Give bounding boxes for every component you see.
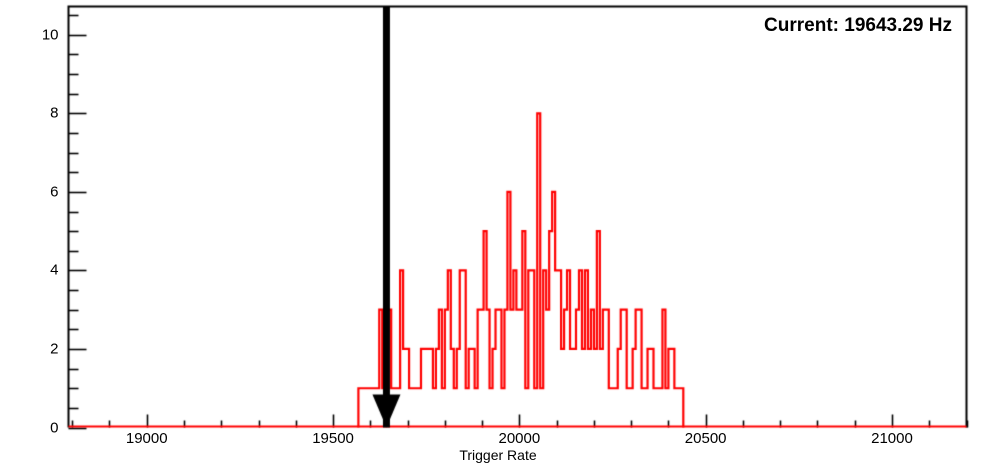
x-tick-label: 20500: [685, 430, 727, 447]
y-tick-label: 2: [0, 340, 59, 357]
trigger-rate-histogram-canvas: [0, 0, 996, 472]
x-tick-label: 21000: [871, 430, 913, 447]
current-rate-readout: Current: 19643.29 Hz: [764, 15, 952, 37]
x-tick-label: 19500: [312, 430, 354, 447]
y-tick-label: 6: [0, 183, 59, 200]
y-tick-label: 8: [0, 105, 59, 122]
y-tick-label: 0: [0, 419, 59, 436]
x-tick-label: 19000: [126, 430, 168, 447]
x-axis-title: Trigger Rate: [0, 447, 996, 463]
y-tick-label: 4: [0, 262, 59, 279]
x-tick-label: 20000: [499, 430, 541, 447]
y-tick-label: 10: [0, 26, 59, 43]
